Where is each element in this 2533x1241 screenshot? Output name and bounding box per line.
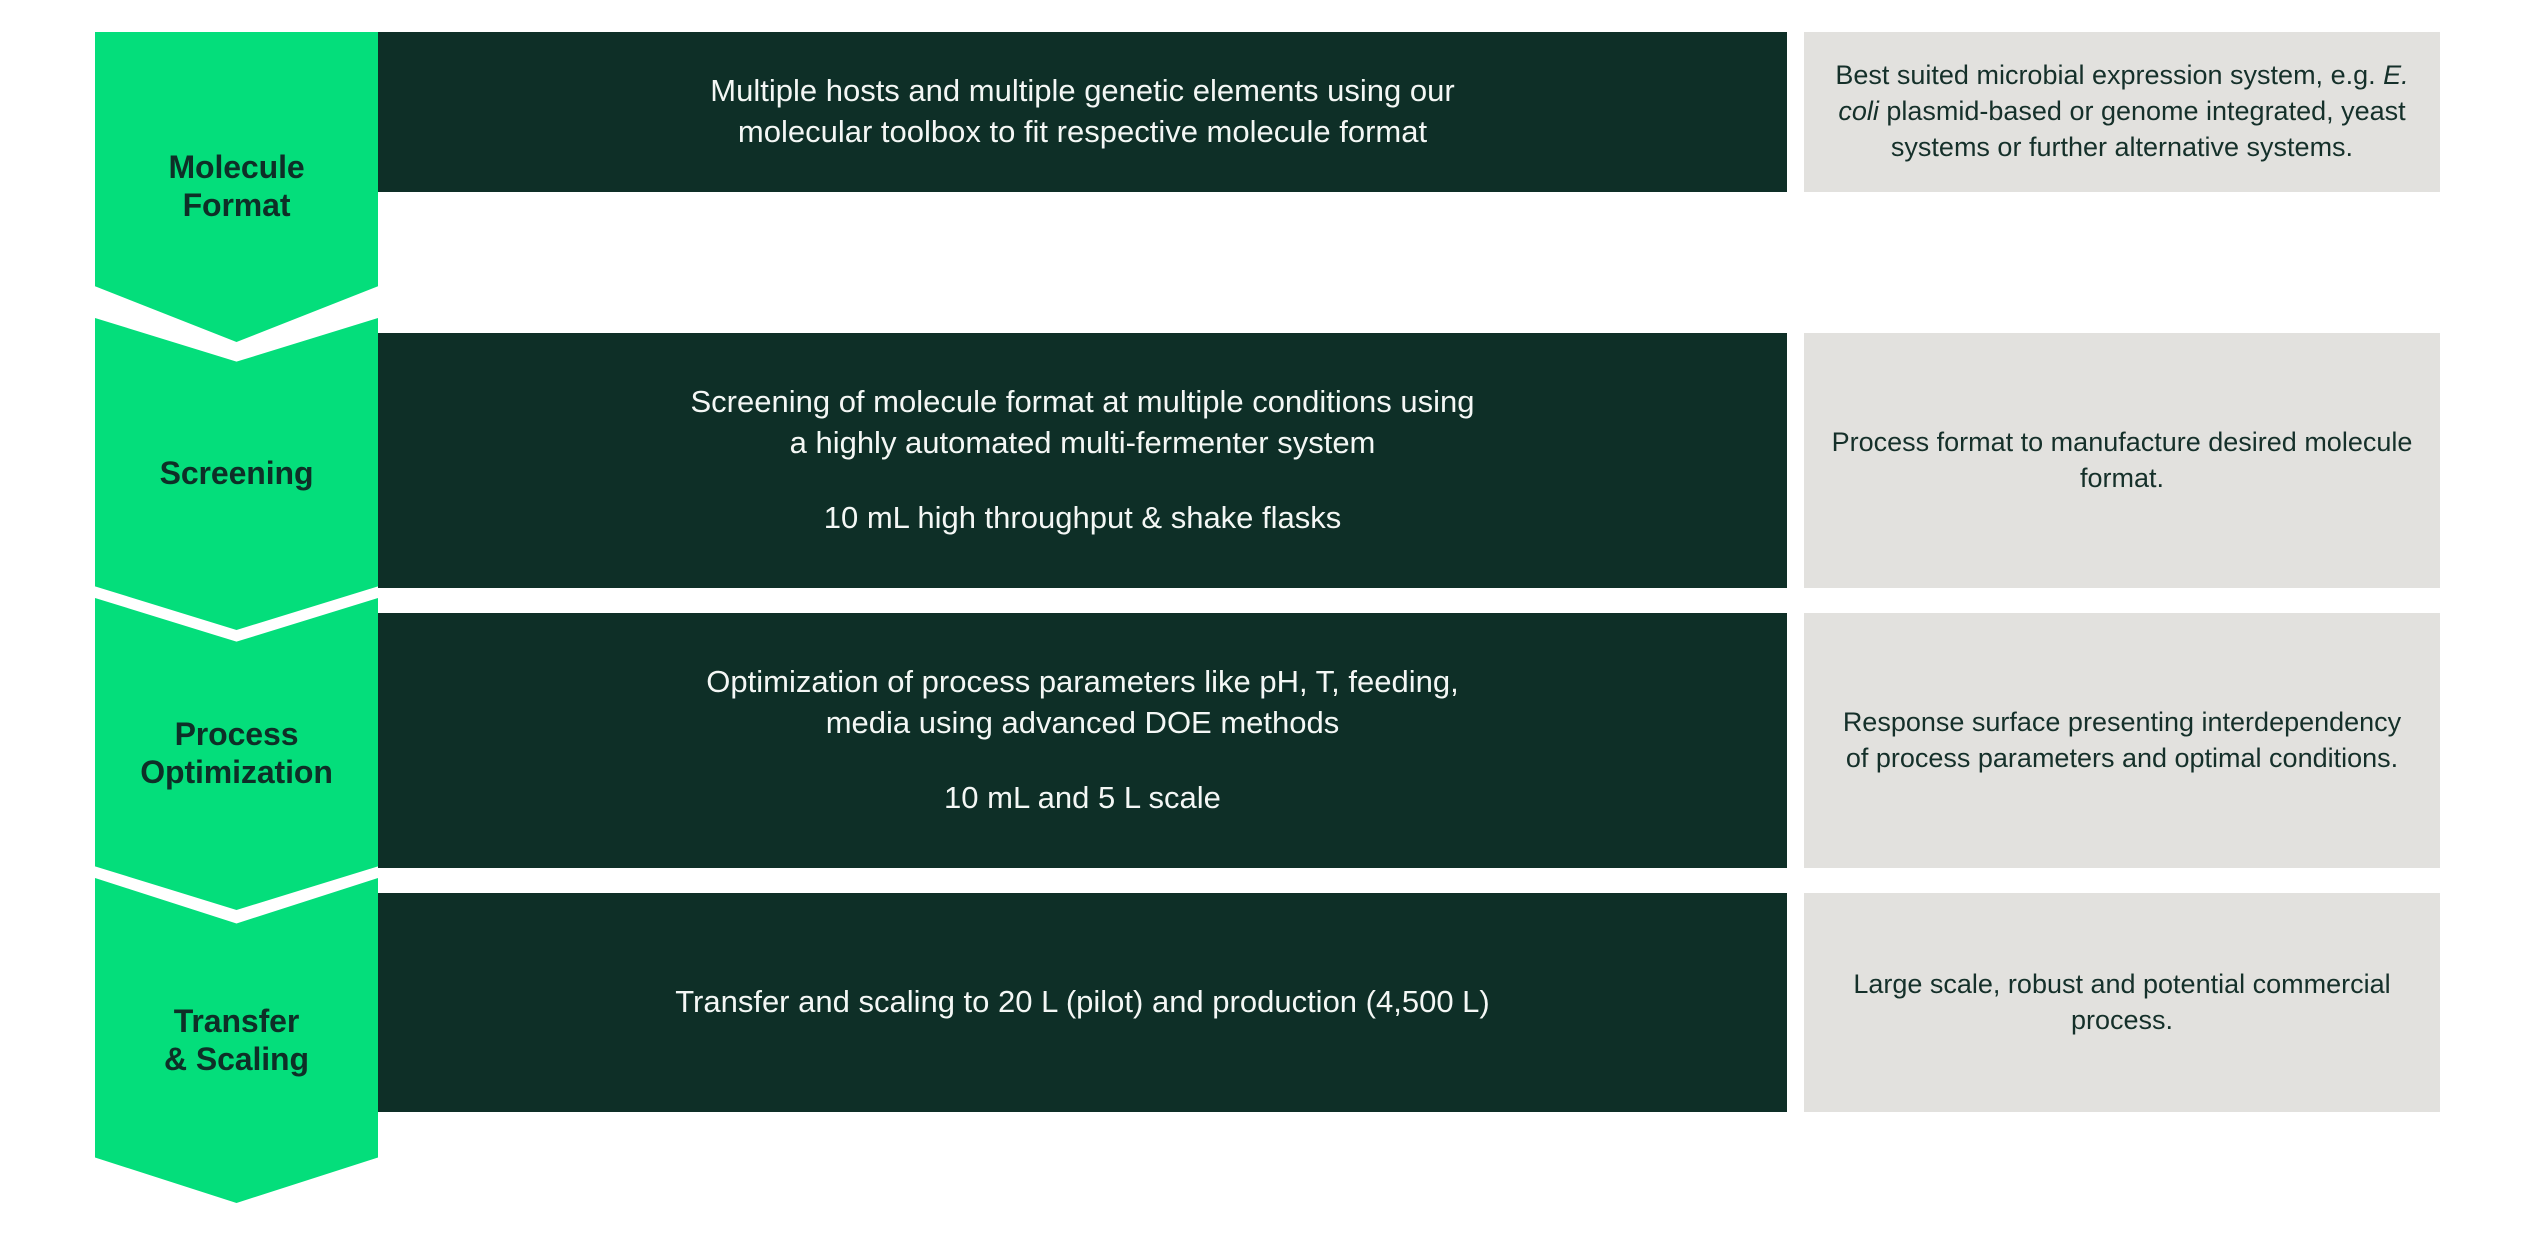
stage-outcome-panel-process-optimization: Response surface presenting interdepende… <box>1804 613 2440 868</box>
stage-description-paragraph: 10 mL high throughput & shake flasks <box>824 498 1342 539</box>
stage-chevron-transfer-scaling[interactable]: Transfer & Scaling <box>95 878 378 1203</box>
outcome-text-prefix: Large scale, robust and potential commer… <box>1853 969 2390 1035</box>
outcome-text-prefix: Process format to manufacture desired mo… <box>1832 427 2413 493</box>
stage-description-paragraph: Transfer and scaling to 20 L (pilot) and… <box>675 982 1490 1023</box>
stage-outcome-text: Large scale, robust and potential commer… <box>1828 967 2416 1039</box>
stage-outcome-text: Response surface presenting interdepende… <box>1828 705 2416 777</box>
stage-chevron-label: Transfer & Scaling <box>164 1003 309 1079</box>
stage-chevron-label: Process Optimization <box>140 716 333 792</box>
diagram-canvas: Molecule Format Multiple hosts and multi… <box>0 0 2533 1241</box>
stage-description-paragraph: Optimization of process parameters like … <box>706 662 1458 744</box>
stage-description-panel-screening: Screening of molecule format at multiple… <box>378 333 1787 588</box>
stage-description-paragraph: Screening of molecule format at multiple… <box>690 382 1474 464</box>
outcome-text-prefix: Response surface presenting interdepende… <box>1843 707 2401 773</box>
stage-chevron-label: Screening <box>160 455 314 493</box>
stage-chevron-screening[interactable]: Screening <box>95 318 378 630</box>
stage-outcome-panel-screening: Process format to manufacture desired mo… <box>1804 333 2440 588</box>
stage-outcome-text: Process format to manufacture desired mo… <box>1828 425 2416 497</box>
stage-description-paragraph: 10 mL and 5 L scale <box>944 778 1221 819</box>
stage-description-panel-process-optimization: Optimization of process parameters like … <box>378 613 1787 868</box>
stage-description-panel-transfer-scaling: Transfer and scaling to 20 L (pilot) and… <box>378 893 1787 1112</box>
process-stage-row: Transfer & Scaling Transfer and scaling … <box>0 0 2533 310</box>
stage-chevron-process-optimization[interactable]: Process Optimization <box>95 598 378 910</box>
stage-outcome-panel-transfer-scaling: Large scale, robust and potential commer… <box>1804 893 2440 1112</box>
